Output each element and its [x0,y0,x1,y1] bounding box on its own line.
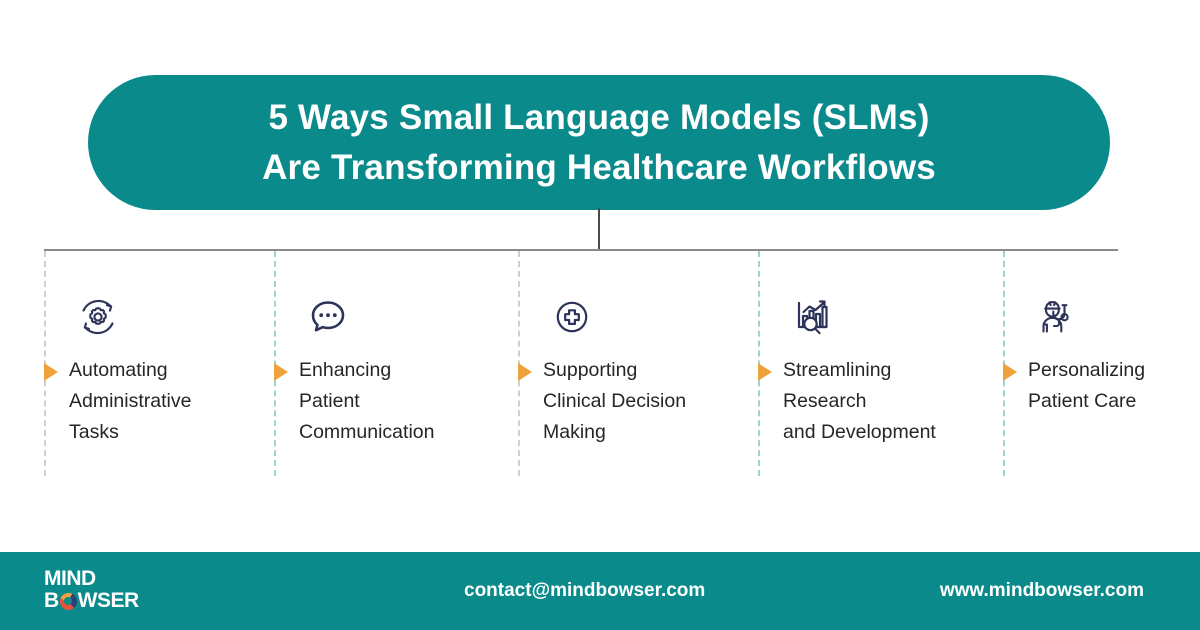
bullet-triangle-icon [1003,363,1017,381]
chat-bubble-dots-icon [304,293,352,341]
logo-letters-wser: WSER [78,590,139,612]
page-title: 5 Ways Small Language Models (SLMs) Are … [222,93,976,193]
medical-cross-circle-icon [548,293,596,341]
title-line-1: 5 Ways Small Language Models (SLMs) [262,93,936,143]
point-body-3: Supporting Clinical Decision Making [518,355,686,448]
bar-chart-magnifier-icon [788,293,836,341]
point-label-4: Streamlining Research and Development [783,355,936,448]
point-body-2: Enhancing Patient Communication [274,355,434,448]
logo-text-bowser: B WSER [44,590,204,612]
footer-bar: MIND B WSER contact@mindbowser.com www.m… [0,552,1200,630]
logo-letter-b: B [44,590,59,612]
bullet-triangle-icon [758,363,772,381]
connector-vertical-line [598,208,600,250]
point-column-2: Enhancing Patient Communication [274,251,518,476]
bullet-triangle-icon [274,363,288,381]
point-column-3: Supporting Clinical Decision Making [518,251,758,476]
point-label-2: Enhancing Patient Communication [299,355,434,448]
mindbowser-logo[interactable]: MIND B WSER [44,568,204,612]
logo-text-mind: MIND [44,568,204,590]
point-column-1: Automating Administrative Tasks [44,251,274,476]
point-column-4: Streamlining Research and Development [758,251,1003,476]
point-label-1: Automating Administrative Tasks [69,355,191,448]
bullet-triangle-icon [44,363,58,381]
point-column-5: Personalizing Patient Care [1003,251,1200,476]
point-label-3: Supporting Clinical Decision Making [543,355,686,448]
gear-cycle-icon [74,293,122,341]
point-body-5: Personalizing Patient Care [1003,355,1145,417]
point-body-1: Automating Administrative Tasks [44,355,191,448]
infographic-canvas: 5 Ways Small Language Models (SLMs) Are … [0,0,1200,630]
point-body-4: Streamlining Research and Development [758,355,936,448]
logo-swirl-icon [60,593,77,610]
title-line-2: Are Transforming Healthcare Workflows [262,143,936,193]
points-row: Automating Administrative Tasks Enhancin… [44,251,1118,476]
title-banner: 5 Ways Small Language Models (SLMs) Are … [88,75,1110,210]
footer-email[interactable]: contact@mindbowser.com [464,580,705,602]
bullet-triangle-icon [518,363,532,381]
doctor-stethoscope-icon [1033,293,1081,341]
point-label-5: Personalizing Patient Care [1028,355,1145,417]
footer-website[interactable]: www.mindbowser.com [940,580,1144,602]
